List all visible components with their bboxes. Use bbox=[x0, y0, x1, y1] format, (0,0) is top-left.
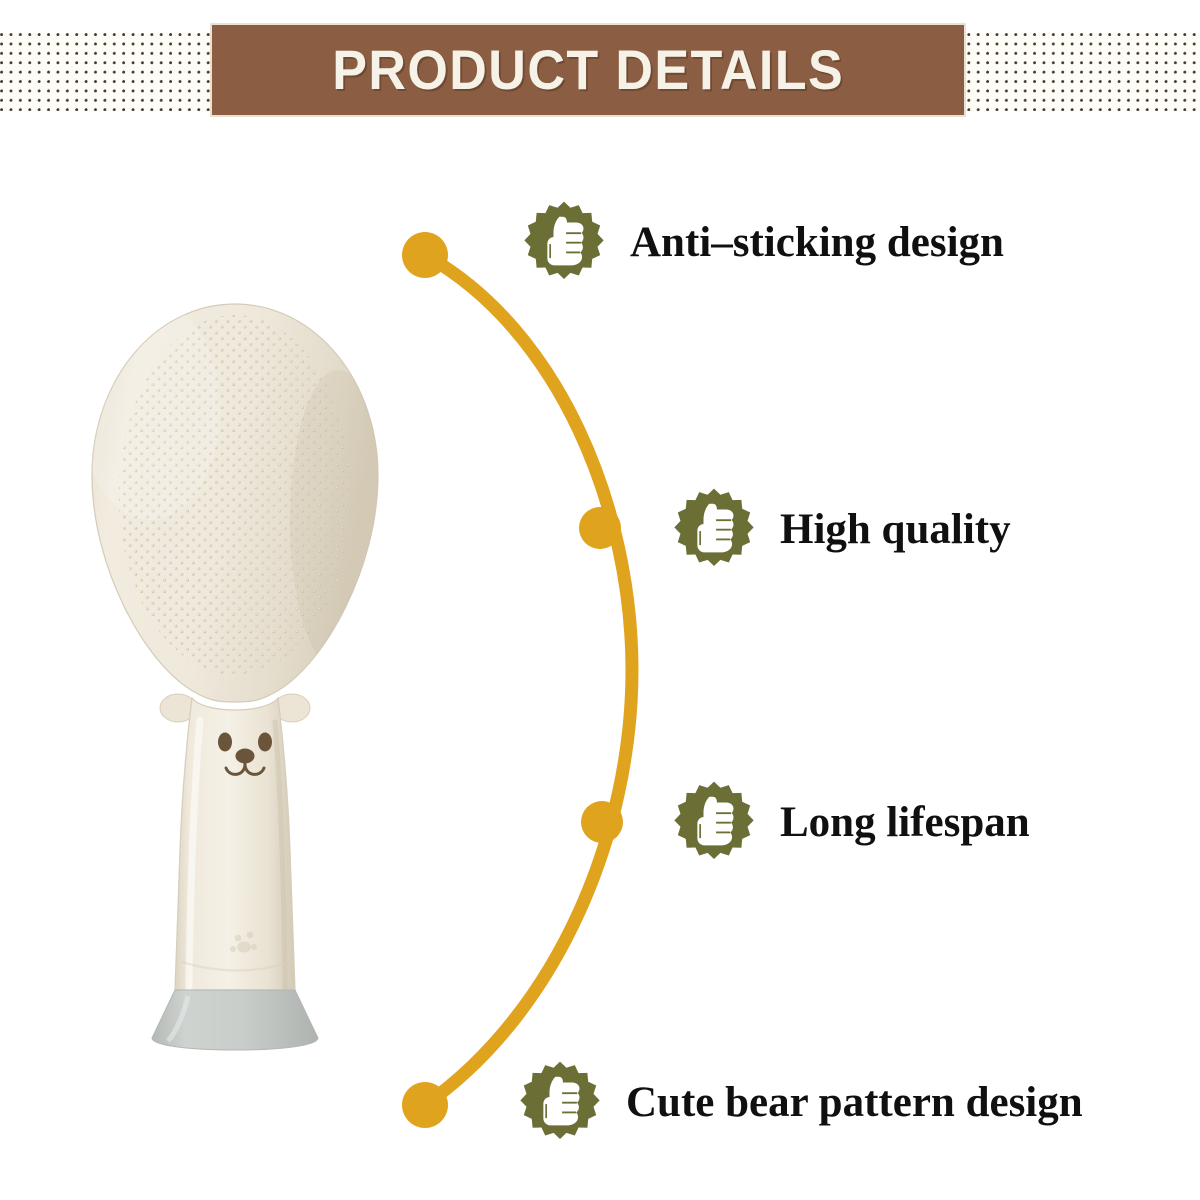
connector-path bbox=[425, 255, 632, 1105]
product-image-rice-paddle bbox=[70, 290, 400, 1060]
header: PRODUCT DETAILS bbox=[0, 0, 1200, 140]
header-banner: PRODUCT DETAILS bbox=[210, 23, 966, 117]
feature-item-1[interactable]: Anti–sticking design bbox=[522, 200, 1004, 284]
connector-node-3 bbox=[581, 801, 623, 843]
feature-label: High quality bbox=[780, 508, 1011, 551]
feature-label: Long lifespan bbox=[780, 801, 1030, 844]
paddle-base-stand bbox=[152, 990, 318, 1050]
paddle-head bbox=[80, 300, 386, 702]
feature-item-3[interactable]: Long lifespan bbox=[672, 780, 1030, 864]
feature-label: Cute bear pattern design bbox=[626, 1081, 1083, 1124]
paddle-handle bbox=[175, 698, 295, 990]
connector-node-2 bbox=[579, 507, 621, 549]
thumbs-up-badge-icon bbox=[672, 487, 756, 571]
connector-node-1 bbox=[402, 232, 448, 278]
connector-node-4 bbox=[402, 1082, 448, 1128]
thumbs-up-badge-icon bbox=[518, 1060, 602, 1144]
feature-label: Anti–sticking design bbox=[630, 221, 1004, 264]
page-title: PRODUCT DETAILS bbox=[332, 42, 844, 98]
thumbs-up-badge-icon bbox=[522, 200, 606, 284]
feature-item-2[interactable]: High quality bbox=[672, 487, 1011, 571]
infographic-canvas: PRODUCT DETAILS bbox=[0, 0, 1200, 1200]
feature-item-4[interactable]: Cute bear pattern design bbox=[518, 1060, 1083, 1144]
connector-curve bbox=[380, 190, 680, 1150]
thumbs-up-badge-icon bbox=[672, 780, 756, 864]
